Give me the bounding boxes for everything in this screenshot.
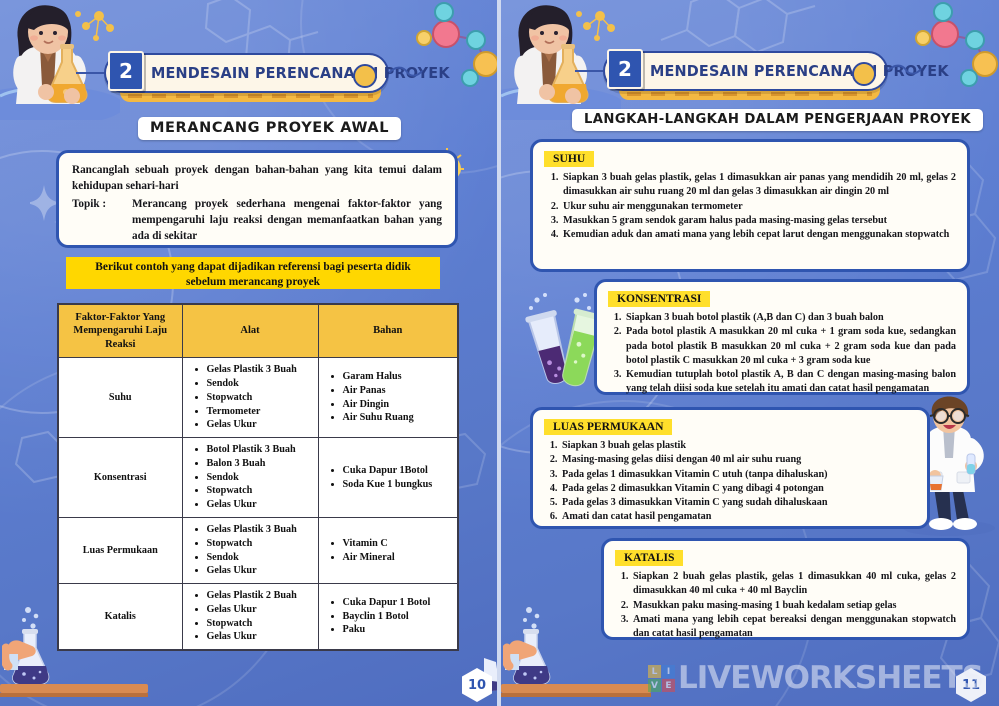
liveworksheets-watermark: L I V E LIVEWORKSHEETS: [648, 663, 983, 694]
list-item: Air Mineral: [343, 551, 454, 565]
list-item: Soda Kue 1 bungkus: [343, 478, 454, 492]
slide-right: 2 MENDESAIN PERENCANAAN PROYEK LANGKAH-L…: [501, 0, 999, 706]
table-header-factor: Faktor-Faktor Yang Mempengaruhi Laju Rea…: [58, 304, 182, 358]
row-alat: Gelas Plastik 2 Buah Gelas Ukur Stopwatc…: [182, 584, 318, 651]
row-alat: Gelas Plastik 3 Buah Sendok Stopwatch Te…: [182, 358, 318, 438]
watermark-tile-l: L: [648, 665, 661, 678]
row-factor: Luas Permukaan: [58, 517, 182, 583]
list-item: Air Dingin: [343, 398, 454, 412]
brief-topic-label: Topik :: [72, 197, 106, 213]
header-ribbon: 2 MENDESAIN PERENCANAAN PROYEK: [603, 50, 888, 92]
row-alat: Gelas Plastik 3 Buah Stopwatch Sendok Ge…: [182, 517, 318, 583]
brief-topic-text: Merancang proyek sederhana mengenai fakt…: [72, 197, 442, 245]
hand-flask-illustration: [503, 604, 573, 694]
brief-topic: Topik : Merancang proyek sederhana menge…: [72, 197, 442, 245]
hand-flask-illustration: [2, 604, 72, 694]
list-item: Gelas Plastik 3 Buah: [207, 523, 314, 537]
list-item: Cuka Dapur 1Botol: [343, 464, 454, 478]
step-list-luas-permukaan: Siapkan 3 buah gelas plastik Masing-masi…: [544, 439, 916, 525]
list-item: Sendok: [207, 377, 314, 391]
row-alat: Botol Plastik 3 Buah Balon 3 Buah Sendok…: [182, 438, 318, 518]
list-item: Gelas Plastik 3 Buah: [207, 363, 314, 377]
table-row: Luas Permukaan Gelas Plastik 3 Buah Stop…: [58, 517, 458, 583]
step-list-suhu: Siapkan 3 buah gelas plastik, gelas 1 di…: [544, 171, 956, 242]
step-label-luas-permukaan: LUAS PERMUKAAN: [544, 419, 672, 435]
row-factor: Suhu: [58, 358, 182, 438]
molecule-decoration: [400, 0, 497, 100]
step-item: Masing-masing gelas diisi dengan 40 ml a…: [560, 453, 916, 467]
molecule-decoration: [899, 0, 999, 100]
list-item: Gelas Ukur: [207, 630, 314, 644]
row-bahan: Cuka Dapur 1 Botol Bayclin 1 Botol Paku: [318, 584, 458, 651]
list-item: Bayclin 1 Botol: [343, 610, 454, 624]
step-item: Ukur suhu air menggunakan termometer: [561, 200, 956, 214]
list-item: Sendok: [207, 471, 314, 485]
step-item: Masukkan paku masing-masing 1 buah kedal…: [631, 599, 956, 613]
step-item: Masukkan 5 gram sendok garam halus pada …: [561, 214, 956, 228]
row-bahan: Vitamin C Air Mineral: [318, 517, 458, 583]
ribbon-left-line: [76, 72, 104, 74]
step-label-konsentrasi: KONSENTRASI: [608, 291, 710, 307]
header-ribbon: 2 MENDESAIN PERENCANAAN PROYEK: [104, 52, 389, 94]
worksheet-page: 2 MENDESAIN PERENCANAAN PROYEK MERANCANG…: [0, 0, 999, 706]
table-row: Suhu Gelas Plastik 3 Buah Sendok Stopwat…: [58, 358, 458, 438]
list-item: Stopwatch: [207, 617, 314, 631]
watermark-tiles: L I V E: [648, 665, 675, 692]
step-item: Kemudian aduk dan amati mana yang lebih …: [561, 228, 956, 242]
watermark-tile-e: E: [662, 679, 675, 692]
list-item: Gelas Ukur: [207, 498, 314, 512]
watermark-tile-i: I: [662, 665, 675, 678]
list-item: Gelas Ukur: [207, 603, 314, 617]
ribbon-squiggle-icon: [389, 66, 423, 80]
slide-left: 2 MENDESAIN PERENCANAAN PROYEK MERANCANG…: [0, 0, 497, 706]
list-item: Gelas Ukur: [207, 564, 314, 578]
watermark-tile-v: V: [648, 679, 661, 692]
list-item: Stopwatch: [207, 484, 314, 498]
list-item: Vitamin C: [343, 537, 454, 551]
list-item: Termometer: [207, 405, 314, 419]
brief-line-1: Rancanglah sebuah proyek dengan bahan-ba…: [72, 163, 442, 195]
row-factor: Konsentrasi: [58, 438, 182, 518]
step-item: Siapkan 3 buah botol plastik (A,B dan C)…: [624, 311, 956, 325]
list-item: Sendok: [207, 551, 314, 565]
brief-card: Rancanglah sebuah proyek dengan bahan-ba…: [56, 150, 458, 248]
section-title-merancang: MERANCANG PROYEK AWAL: [138, 117, 401, 140]
ribbon-squiggle-icon: [888, 64, 922, 78]
reference-banner: Berikut contoh yang dapat dijadikan refe…: [66, 257, 440, 289]
step-item: Pada gelas 2 dimasukkan Vitamin C yang d…: [560, 482, 916, 496]
step-item: Kemudian tutuplah botol plastik A, B dan…: [624, 368, 956, 397]
step-item: Pada botol plastik A masukkan 20 ml cuka…: [624, 325, 956, 368]
list-item: Gelas Ukur: [207, 418, 314, 432]
step-item: Siapkan 2 buah gelas plastik, gelas 1 di…: [631, 570, 956, 599]
ribbon-knob-icon: [353, 64, 377, 88]
table-row: Konsentrasi Botol Plastik 3 Buah Balon 3…: [58, 438, 458, 518]
desk-bar: [0, 684, 148, 693]
table-header-row: Faktor-Faktor Yang Mempengaruhi Laju Rea…: [58, 304, 458, 358]
table-row: Katalis Gelas Plastik 2 Buah Gelas Ukur …: [58, 584, 458, 651]
scientist-girl-illustration: [0, 0, 120, 120]
list-item: Cuka Dapur 1 Botol: [343, 596, 454, 610]
list-item: Botol Plastik 3 Buah: [207, 443, 314, 457]
list-item: Garam Halus: [343, 370, 454, 384]
step-item: Pada gelas 3 dimasukkan Vitamin C yang s…: [560, 496, 916, 510]
ribbon-pill: 2 MENDESAIN PERENCANAAN PROYEK: [603, 51, 888, 91]
ribbon-left-line: [575, 70, 603, 72]
table-header-alat: Alat: [182, 304, 318, 358]
list-item: Gelas Plastik 2 Buah: [207, 589, 314, 603]
list-item: Air Panas: [343, 384, 454, 398]
step-label-suhu: SUHU: [544, 151, 594, 167]
step-item: Pada gelas 1 dimasukkan Vitamin C utuh (…: [560, 468, 916, 482]
step-item: Amati mana yang lebih cepat bereaksi den…: [631, 613, 956, 642]
list-item: Paku: [343, 623, 454, 637]
list-item: Stopwatch: [207, 391, 314, 405]
step-list-katalis: Siapkan 2 buah gelas plastik, gelas 1 di…: [615, 570, 956, 641]
ribbon-pill: 2 MENDESAIN PERENCANAAN PROYEK: [104, 53, 389, 93]
step-card-suhu: SUHU Siapkan 3 buah gelas plastik, gelas…: [530, 139, 970, 272]
desk-bar: [501, 684, 651, 693]
row-bahan: Garam Halus Air Panas Air Dingin Air Suh…: [318, 358, 458, 438]
step-item: Siapkan 3 buah gelas plastik, gelas 1 di…: [561, 171, 956, 200]
materials-table: Faktor-Faktor Yang Mempengaruhi Laju Rea…: [57, 303, 459, 651]
table-header-bahan: Bahan: [318, 304, 458, 358]
step-item: Siapkan 3 buah gelas plastik: [560, 439, 916, 453]
section-title-langkah: LANGKAH-LANGKAH DALAM PENGERJAAN PROYEK: [572, 109, 983, 131]
list-item: Air Suhu Ruang: [343, 411, 454, 425]
step-card-katalis: KATALIS Siapkan 2 buah gelas plastik, ge…: [601, 538, 970, 640]
list-item: Balon 3 Buah: [207, 457, 314, 471]
row-factor: Katalis: [58, 584, 182, 651]
step-card-luas-permukaan: LUAS PERMUKAAN Siapkan 3 buah gelas plas…: [530, 407, 930, 529]
list-item: Stopwatch: [207, 537, 314, 551]
step-card-konsentrasi: KONSENTRASI Siapkan 3 buah botol plastik…: [594, 279, 970, 395]
test-tubes-illustration: [519, 292, 605, 398]
watermark-text: LIVEWORKSHEETS: [678, 663, 983, 694]
ribbon-knob-icon: [852, 62, 876, 86]
step-item: Amati dan catat hasil pengamatan: [560, 510, 916, 524]
step-list-konsentrasi: Siapkan 3 buah botol plastik (A,B dan C)…: [608, 311, 956, 397]
row-bahan: Cuka Dapur 1Botol Soda Kue 1 bungkus: [318, 438, 458, 518]
step-label-katalis: KATALIS: [615, 550, 683, 566]
